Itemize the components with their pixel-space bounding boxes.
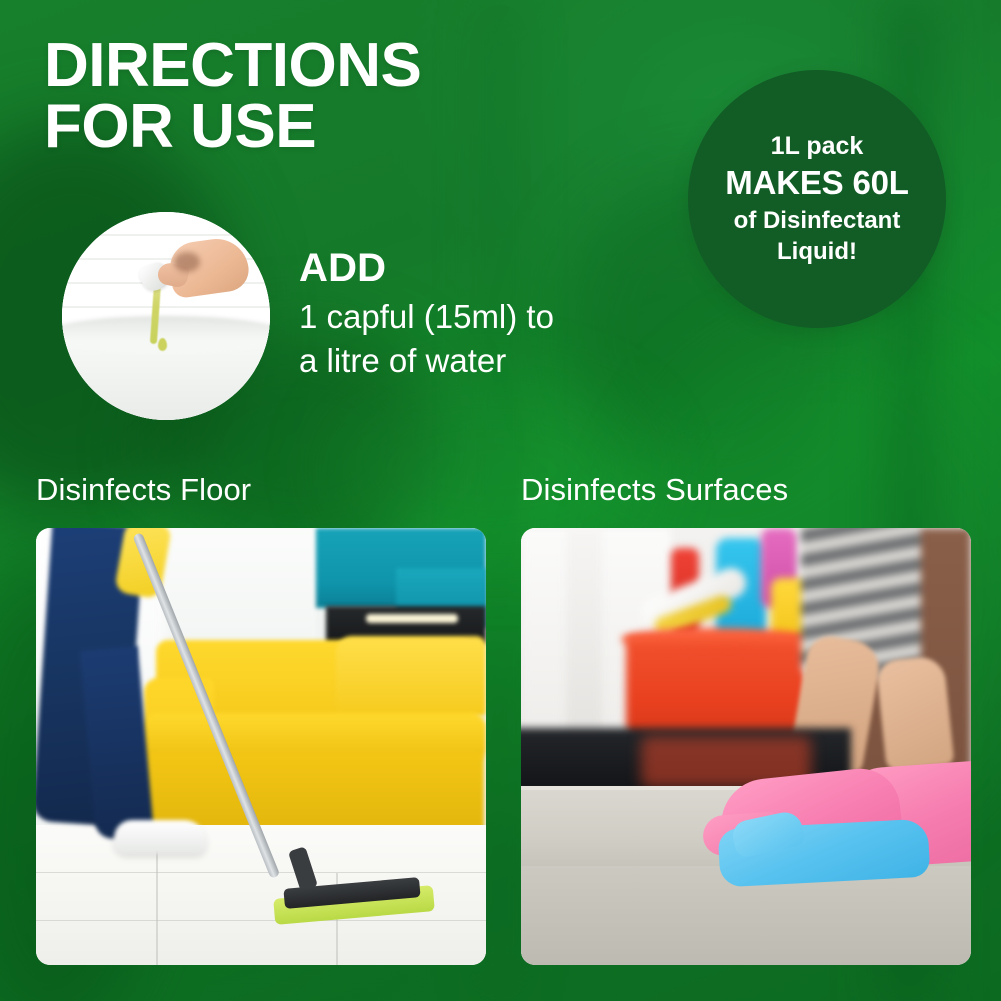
directions-for-use-poster: DIRECTIONS FOR USE 1L pack MAKES 60L of …	[0, 0, 1001, 1001]
capful-pour-photo	[62, 212, 270, 420]
floor-tile-line	[36, 872, 486, 873]
page-title: DIRECTIONS FOR USE	[44, 36, 421, 158]
floor-sofa-cushion	[336, 636, 486, 716]
surfaces-bucket-rim	[621, 628, 811, 650]
photo-liquid-drop	[158, 338, 167, 351]
photo-hand-shadow	[174, 252, 200, 272]
badge-line-2: MAKES 60L	[725, 162, 908, 205]
step-body: 1 capful (15ml) to a litre of water	[299, 295, 554, 382]
photo-card-surfaces	[521, 528, 971, 965]
badge-line-1: 1L pack	[771, 130, 864, 162]
step-title: ADD	[299, 247, 554, 289]
step-text-block: ADD 1 capful (15ml) to a litre of water	[299, 247, 554, 382]
caption-disinfects-floor: Disinfects Floor	[36, 472, 251, 508]
floor-light-strip	[366, 614, 458, 623]
makes-60l-badge: 1L pack MAKES 60L of Disinfectant Liquid…	[688, 70, 946, 328]
caption-disinfects-surfaces: Disinfects Surfaces	[521, 472, 788, 508]
photo-card-floor	[36, 528, 486, 965]
surfaces-door	[566, 528, 602, 758]
floor-tile-line	[36, 920, 486, 921]
surfaces-person-arm-2	[875, 655, 954, 772]
floor-person-shoe	[114, 820, 206, 854]
badge-line-3: of Disinfectant	[734, 205, 901, 236]
badge-line-4: Liquid!	[777, 236, 857, 268]
